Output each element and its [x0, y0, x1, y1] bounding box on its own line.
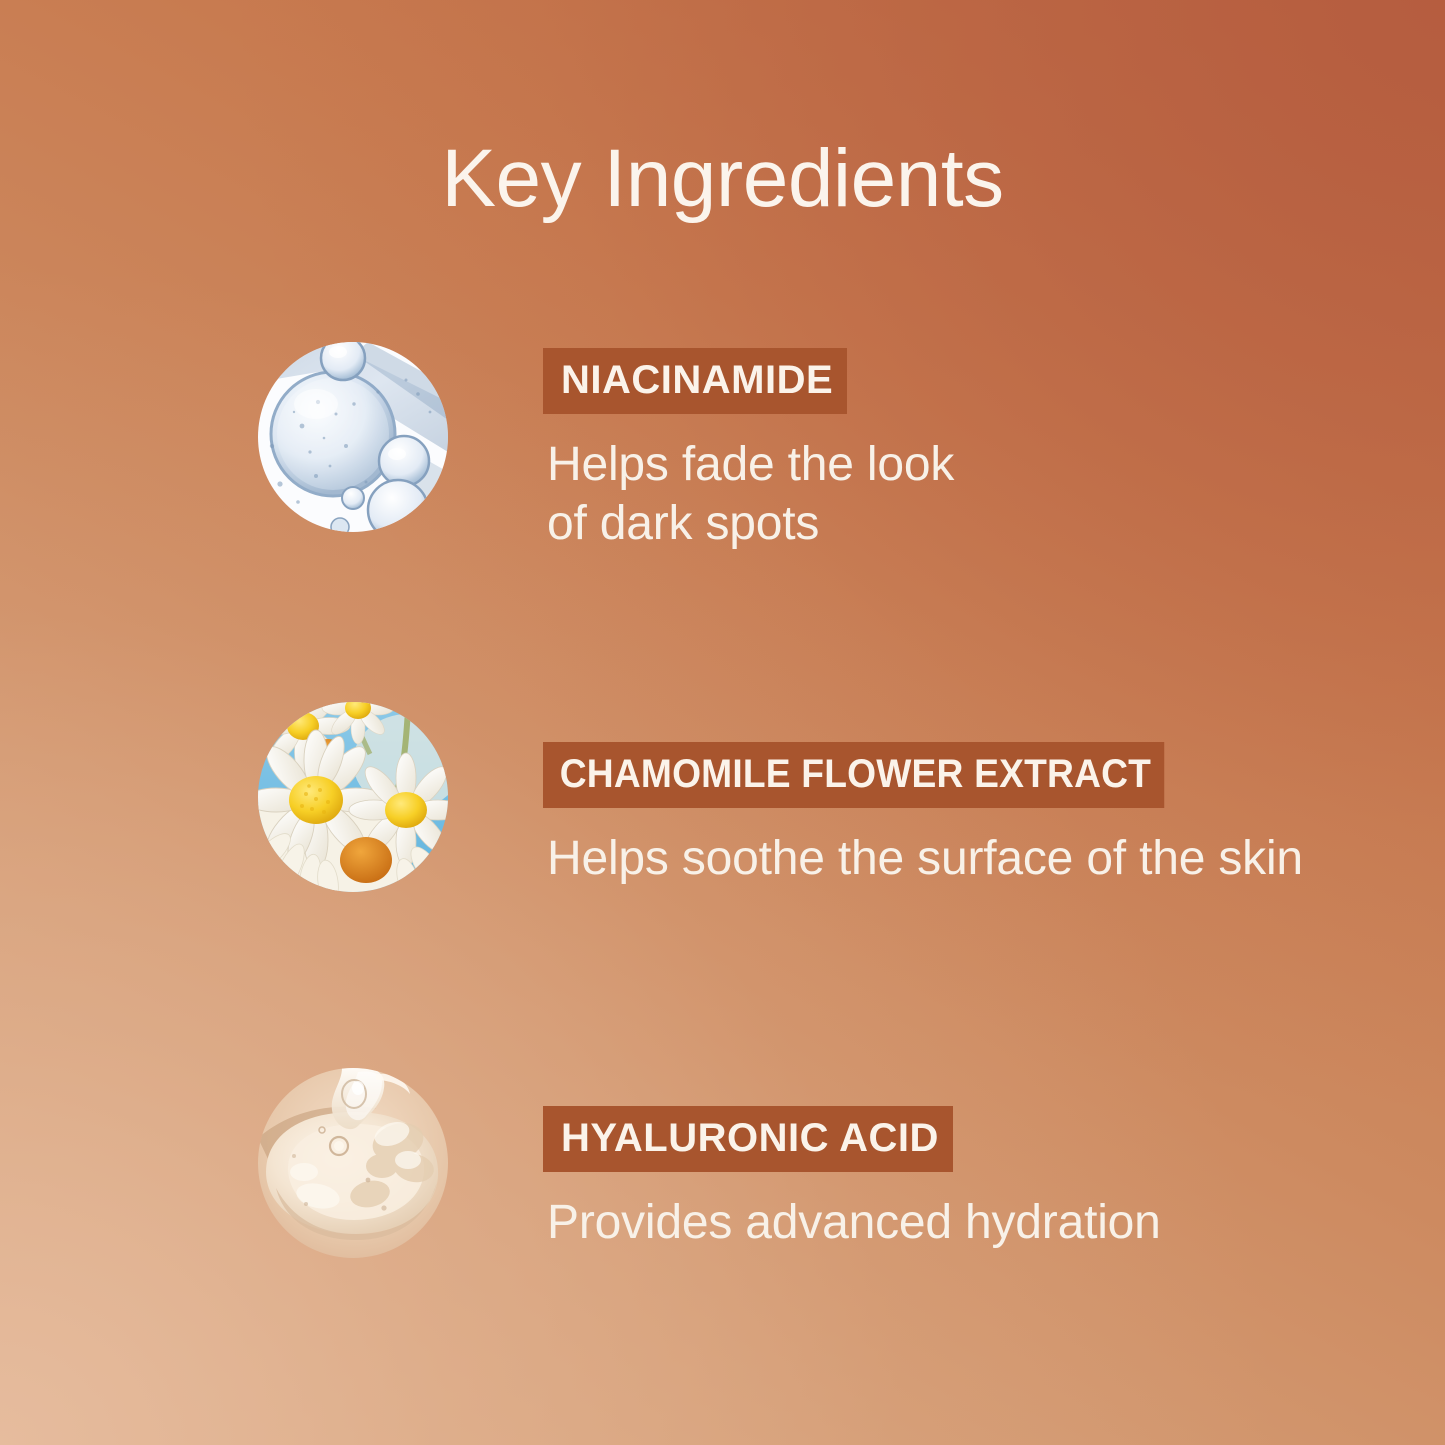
ingredient-text-chamomile: CHAMOMILE FLOWER EXTRACT Helps soothe th… — [543, 742, 1303, 889]
ingredient-text-hyaluronic-acid: HYALURONIC ACID Provides advanced hydrat… — [543, 1106, 1161, 1253]
ingredient-description: Provides advanced hydration — [547, 1194, 1161, 1253]
ingredient-description: Helps soothe the surface of the skin — [547, 830, 1303, 889]
ingredient-name-badge: HYALURONIC ACID — [543, 1106, 953, 1172]
serum-droplet-photo — [258, 1068, 448, 1258]
chamomile-flowers-photo — [258, 702, 448, 892]
ingredient-name-badge: NIACINAMIDE — [543, 348, 847, 414]
ingredient-name-badge: CHAMOMILE FLOWER EXTRACT — [543, 742, 1164, 808]
page-title: Key Ingredients — [0, 136, 1445, 222]
water-bubbles-photo — [258, 342, 448, 532]
key-ingredients-infographic: Key Ingredients — [0, 0, 1445, 1445]
ingredient-description: Helps fade the look of dark spots — [547, 436, 954, 553]
ingredient-text-niacinamide: NIACINAMIDE Helps fade the look of dark … — [543, 348, 954, 553]
